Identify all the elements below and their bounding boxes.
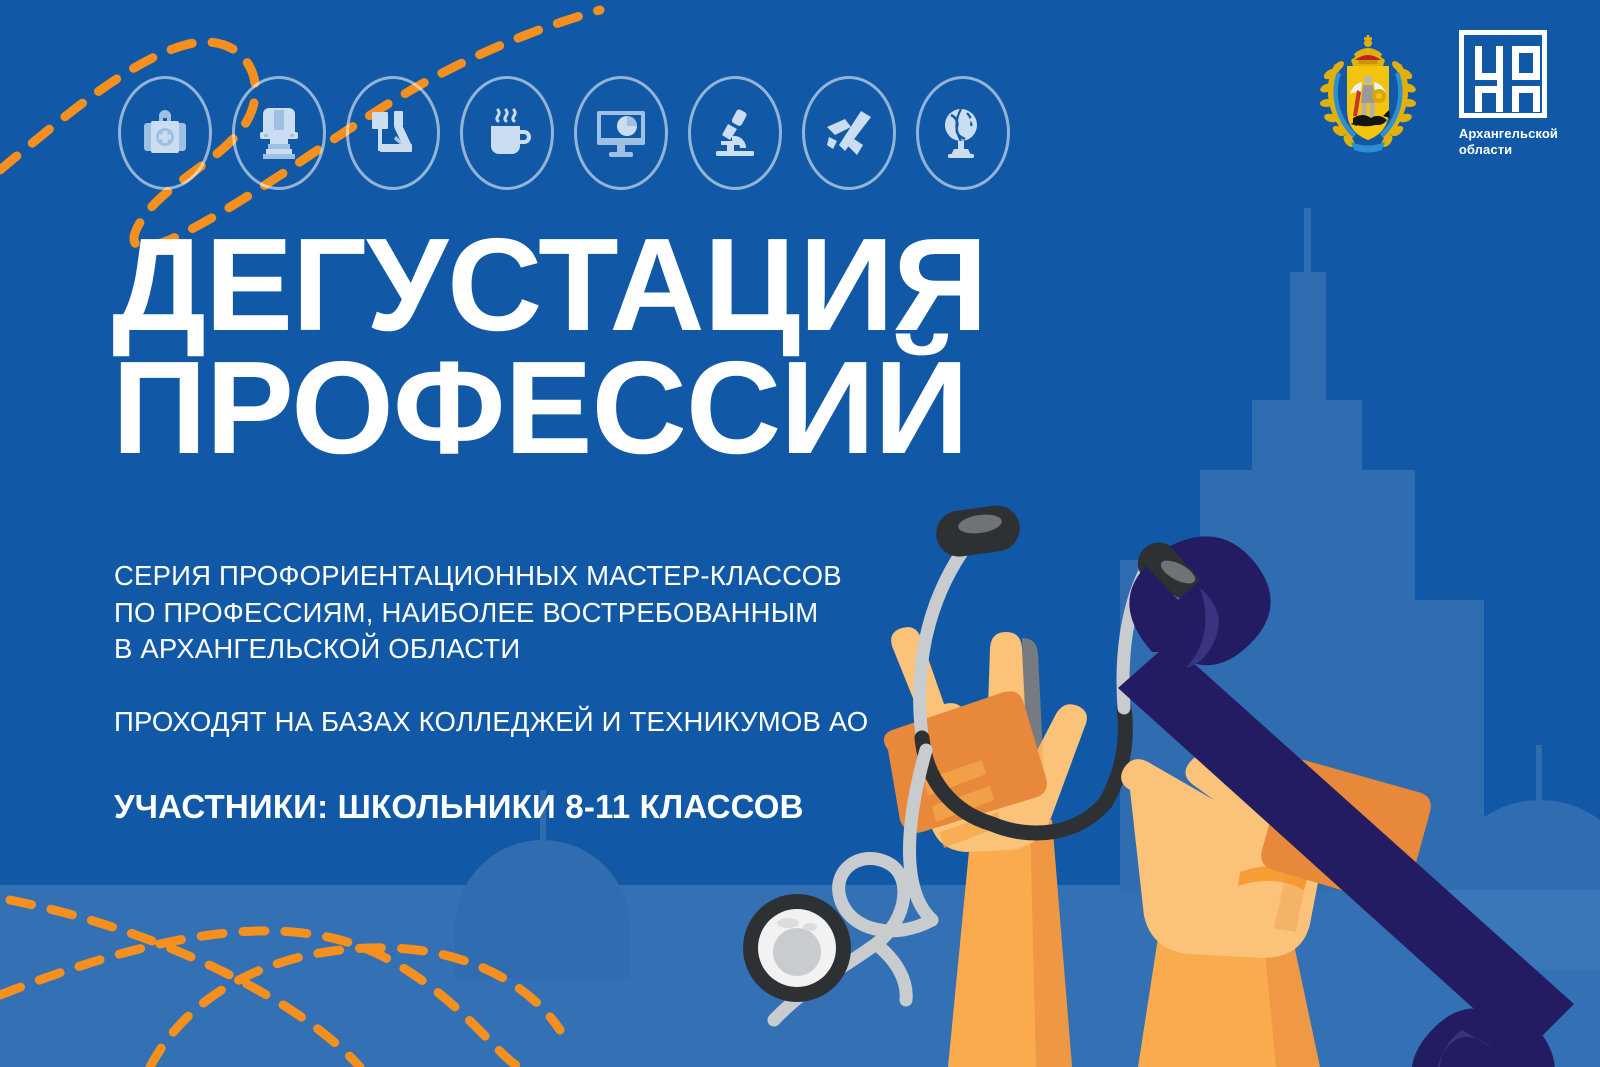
copp-subtitle-line2: области (1459, 142, 1558, 158)
dome-left-body (455, 918, 630, 978)
medical-bag-icon (118, 76, 212, 190)
copp-mark-icon (1459, 30, 1547, 118)
skyscraper-spire (1304, 208, 1311, 278)
stethoscope-eartips (933, 502, 1215, 607)
copp-subtitle: Архангельской области (1459, 126, 1558, 158)
poster-canvas: Архангельской области ДЕГУСТАЦИЯ ПРОФЕСС… (0, 0, 1600, 1067)
airplane-icon (802, 76, 896, 190)
construction-tools-icon (346, 76, 440, 190)
hands-illustration (700, 420, 1600, 1067)
theodolite-icon (232, 76, 326, 190)
microscope-icon (688, 76, 782, 190)
copp-logo: Архангельской области (1459, 30, 1558, 158)
headline-line-1: ДЕГУСТАЦИЯ (112, 224, 1112, 347)
coffee-cup-icon (460, 76, 554, 190)
profession-icon-strip (118, 76, 1010, 190)
coat-of-arms-arkhangelsk-oblast (1313, 30, 1423, 170)
globe-icon (916, 76, 1010, 190)
stethoscope-chestpiece (743, 894, 851, 1002)
copp-subtitle-line1: Архангельской (1459, 126, 1558, 142)
monitor-chart-icon (574, 76, 668, 190)
dome-left (455, 840, 630, 928)
logo-group: Архангельской области (1313, 30, 1558, 170)
